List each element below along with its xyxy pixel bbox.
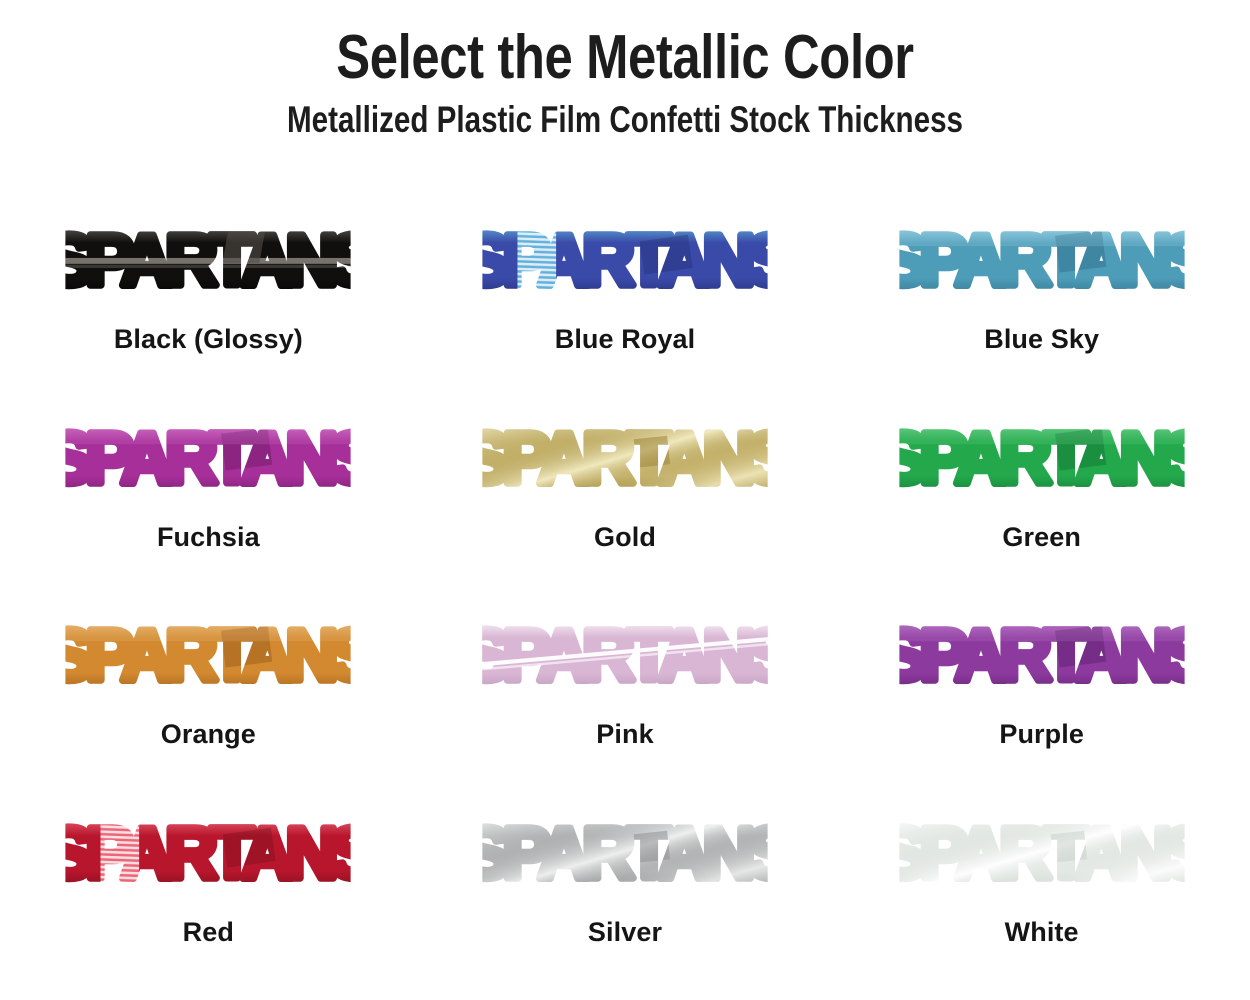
wordmark-svg: SPARTANS (38, 814, 378, 898)
color-swatch-red[interactable]: SPARTANS Red (0, 783, 417, 981)
wordmark-fill (482, 221, 768, 305)
swatch-label-white: White (1005, 917, 1079, 948)
page-header: Select the Metallic Color Metallized Pla… (0, 0, 1250, 140)
wordmark-orange[interactable]: SPARTANS (28, 603, 388, 713)
spartans-wordmark-graphic: SPARTANS (872, 616, 1212, 700)
wordmark-svg: SPARTANS (455, 419, 795, 503)
wordmark-fill (899, 616, 1185, 700)
color-swatch-grid: SPARTANS Black (Glossy) (0, 190, 1250, 980)
wordmark-svg: SPARTANS (455, 221, 795, 305)
wordmark-svg: SPARTANS (38, 221, 378, 305)
wordmark-fill (899, 814, 1185, 898)
swatch-label-blue-royal: Blue Royal (555, 324, 696, 355)
page-subtitle: Metallized Plastic Film Confetti Stock T… (125, 101, 1125, 140)
swatch-label-blue-sky: Blue Sky (984, 324, 1099, 355)
swatch-label-orange: Orange (161, 719, 256, 750)
swatch-label-pink: Pink (596, 719, 653, 750)
color-swatch-green[interactable]: SPARTANS Green (833, 388, 1250, 586)
color-swatch-gold[interactable]: SPARTANS Gold (417, 388, 834, 586)
metallic-color-selector-page: Select the Metallic Color Metallized Pla… (0, 0, 1250, 1000)
wordmark-blue-sky[interactable]: SPARTANS (862, 208, 1222, 318)
color-swatch-orange[interactable]: SPARTANS Orange (0, 585, 417, 783)
wordmark-svg: SPARTANS (872, 616, 1212, 700)
swatch-label-black-glossy: Black (Glossy) (114, 324, 303, 355)
color-swatch-fuchsia[interactable]: SPARTANS Fuchsia (0, 388, 417, 586)
wordmark-svg: SPARTANS (872, 814, 1212, 898)
wordmark-purple[interactable]: SPARTANS (862, 603, 1222, 713)
wordmark-green[interactable]: SPARTANS (862, 406, 1222, 516)
wordmark-gold[interactable]: SPARTANS (445, 406, 805, 516)
wordmark-silver[interactable]: SPARTANS (445, 801, 805, 911)
wordmark-svg: SPARTANS (38, 616, 378, 700)
wordmark-svg: SPARTANS (38, 419, 378, 503)
spartans-wordmark-graphic: SPARTANS (455, 616, 795, 700)
swatch-label-gold: Gold (594, 522, 656, 553)
swatch-label-green: Green (1002, 522, 1081, 553)
swatch-label-red: Red (183, 917, 234, 948)
swatch-label-fuchsia: Fuchsia (157, 522, 260, 553)
wordmark-fill (66, 616, 352, 700)
color-swatch-blue-royal[interactable]: SPARTANS Blue Royal (417, 190, 834, 388)
swatch-label-purple: Purple (999, 719, 1084, 750)
page-title: Select the Metallic Color (113, 26, 1138, 89)
swatch-label-silver: Silver (588, 917, 662, 948)
wordmark-fill (66, 814, 352, 898)
wordmark-black-glossy[interactable]: SPARTANS (28, 208, 388, 318)
wordmark-svg: SPARTANS (872, 221, 1212, 305)
color-swatch-blue-sky[interactable]: SPARTANS Blue Sky (833, 190, 1250, 388)
wordmark-svg: SPARTANS (455, 814, 795, 898)
spartans-wordmark-graphic: SPARTANS (872, 814, 1212, 898)
spartans-wordmark-graphic: SPARTANS (455, 221, 795, 305)
wordmark-red[interactable]: SPARTANS (28, 801, 388, 911)
wordmark-blue-royal[interactable]: SPARTANS (445, 208, 805, 318)
spartans-wordmark-graphic: SPARTANS (38, 814, 378, 898)
color-swatch-white[interactable]: SPARTANS White (833, 783, 1250, 981)
color-swatch-silver[interactable]: SPARTANS Silver (417, 783, 834, 981)
wordmark-svg: SPARTANS (455, 616, 795, 700)
spartans-wordmark-graphic: SPARTANS (38, 616, 378, 700)
spartans-wordmark-graphic: SPARTANS (455, 814, 795, 898)
wordmark-fill (482, 814, 768, 898)
spartans-wordmark-graphic: SPARTANS (872, 419, 1212, 503)
color-swatch-purple[interactable]: SPARTANS Purple (833, 585, 1250, 783)
color-swatch-black-glossy[interactable]: SPARTANS Black (Glossy) (0, 190, 417, 388)
wordmark-fill (66, 221, 352, 305)
spartans-wordmark-graphic: SPARTANS (38, 419, 378, 503)
spartans-wordmark-graphic: SPARTANS (872, 221, 1212, 305)
wordmark-pink[interactable]: SPARTANS (445, 603, 805, 713)
wordmark-svg: SPARTANS (872, 419, 1212, 503)
wordmark-fill (899, 419, 1185, 503)
spartans-wordmark-graphic: SPARTANS (455, 419, 795, 503)
spartans-wordmark-graphic: SPARTANS (38, 221, 378, 305)
wordmark-fuchsia[interactable]: SPARTANS (28, 406, 388, 516)
wordmark-fill (899, 221, 1185, 305)
wordmark-fill (66, 419, 352, 503)
wordmark-white[interactable]: SPARTANS (862, 801, 1222, 911)
color-swatch-pink[interactable]: SPARTANS Pink (417, 585, 834, 783)
wordmark-fill (474, 616, 776, 700)
wordmark-fill (482, 419, 768, 503)
